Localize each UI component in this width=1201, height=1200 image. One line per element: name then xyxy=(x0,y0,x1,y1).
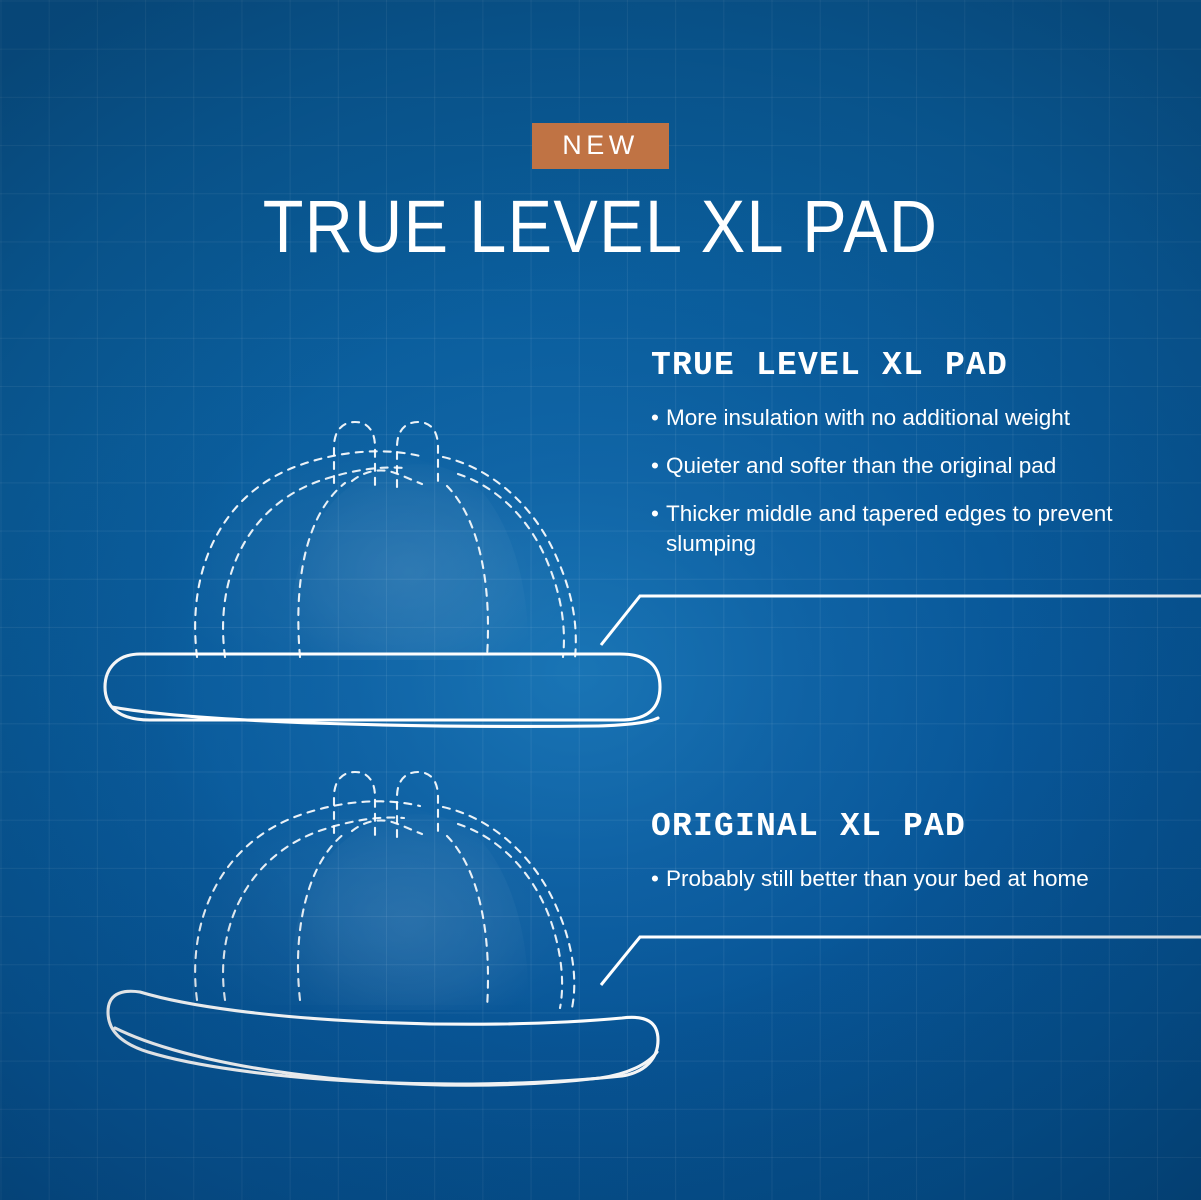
list-item-label: Thicker middle and tapered edges to prev… xyxy=(666,501,1113,555)
section-heading-original: ORIGINAL XL PAD xyxy=(651,808,1171,847)
new-badge: NEW xyxy=(532,123,669,169)
list-item-label: Probably still better than your bed at h… xyxy=(666,866,1089,891)
bullet-dot: • xyxy=(651,864,659,893)
bullet-dot: • xyxy=(651,403,659,432)
list-item: • Thicker middle and tapered edges to pr… xyxy=(651,499,1121,558)
list-item: • More insulation with no additional wei… xyxy=(651,403,1121,432)
leader-line-top xyxy=(601,596,1201,645)
sleeper-figure-bottom xyxy=(195,772,574,1010)
true-level-pad-outline xyxy=(105,654,660,726)
feature-list-original: • Probably still better than your bed at… xyxy=(651,864,1171,893)
section-true-level-xl-pad: TRUE LEVEL XL PAD • More insulation with… xyxy=(651,347,1171,558)
section-heading-true-level: TRUE LEVEL XL PAD xyxy=(651,347,1171,386)
sleeper-figure-top xyxy=(195,422,576,660)
page-title: TRUE LEVEL XL PAD xyxy=(60,189,1141,266)
list-item-label: More insulation with no additional weigh… xyxy=(666,405,1070,430)
header: NEW TRUE LEVEL XL PAD xyxy=(0,0,1201,266)
list-item: • Quieter and softer than the original p… xyxy=(651,451,1121,480)
bullet-dot: • xyxy=(651,451,659,480)
infographic-canvas: NEW TRUE LEVEL XL PAD TRUE LEVEL XL PAD … xyxy=(0,0,1201,1200)
leader-line-bottom xyxy=(601,937,1201,985)
bullet-dot: • xyxy=(651,499,659,528)
original-pad-outline xyxy=(108,991,658,1085)
section-original-xl-pad: ORIGINAL XL PAD • Probably still better … xyxy=(651,808,1171,893)
list-item: • Probably still better than your bed at… xyxy=(651,864,1121,893)
feature-list-true-level: • More insulation with no additional wei… xyxy=(651,403,1171,558)
list-item-label: Quieter and softer than the original pad xyxy=(666,453,1056,478)
